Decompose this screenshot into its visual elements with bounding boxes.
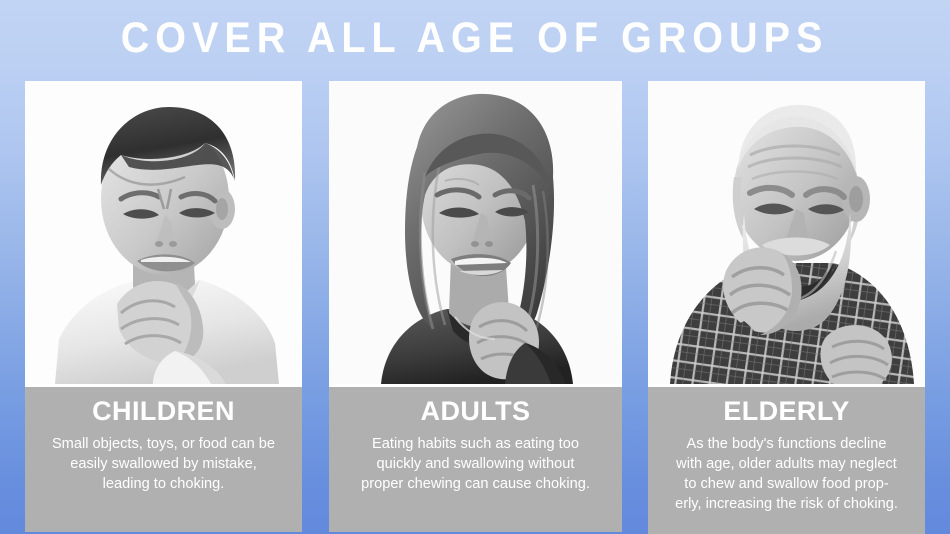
child-choking-photo-icon bbox=[25, 81, 302, 384]
card-body-children: Small objects, toys, or food can be easi… bbox=[31, 434, 296, 494]
caption-adults: ADULTS Eating habits such as eating too … bbox=[329, 387, 622, 532]
age-group-card-children[interactable]: CHILDREN Small objects, toys, or food ca… bbox=[25, 81, 302, 532]
card-body-line: Small objects, toys, or food can be bbox=[37, 434, 290, 454]
card-body-line: leading to choking. bbox=[37, 474, 290, 494]
age-group-card-elderly[interactable]: ELDERLY As the body's functions decline … bbox=[648, 81, 925, 534]
age-group-card-adults[interactable]: ADULTS Eating habits such as eating too … bbox=[329, 81, 622, 532]
infographic-poster: COVER ALL AGE OF GROUPS bbox=[0, 0, 950, 534]
page-title: COVER ALL AGE OF GROUPS bbox=[121, 17, 829, 60]
adult-choking-photo-icon bbox=[329, 81, 622, 384]
card-heading-elderly: ELDERLY bbox=[654, 397, 919, 426]
age-group-card-row: CHILDREN Small objects, toys, or food ca… bbox=[25, 81, 925, 531]
card-body-line: with age, older adults may neglect bbox=[660, 454, 913, 474]
card-body-line: quickly and swallowing without bbox=[341, 454, 610, 474]
card-body-line: easily swallowed by mistake, bbox=[37, 454, 290, 474]
title-bar: COVER ALL AGE OF GROUPS bbox=[0, 0, 950, 76]
photo-children bbox=[25, 81, 302, 387]
card-body-elderly: As the body's functions decline with age… bbox=[654, 434, 919, 514]
card-body-line: As the body's functions decline bbox=[660, 434, 913, 454]
card-heading-children: CHILDREN bbox=[31, 397, 296, 426]
card-body-line: to chew and swallow food prop- bbox=[660, 474, 913, 494]
card-body-line: Eating habits such as eating too bbox=[341, 434, 610, 454]
card-body-line: proper chewing can cause choking. bbox=[341, 474, 610, 494]
photo-adults bbox=[329, 81, 622, 387]
card-body-adults: Eating habits such as eating too quickly… bbox=[335, 434, 616, 494]
card-body-line: erly, increasing the risk of choking. bbox=[660, 494, 913, 514]
elderly-coughing-photo-icon bbox=[648, 81, 925, 384]
caption-elderly: ELDERLY As the body's functions decline … bbox=[648, 387, 925, 534]
card-heading-adults: ADULTS bbox=[335, 397, 616, 426]
photo-elderly bbox=[648, 81, 925, 387]
caption-children: CHILDREN Small objects, toys, or food ca… bbox=[25, 387, 302, 532]
